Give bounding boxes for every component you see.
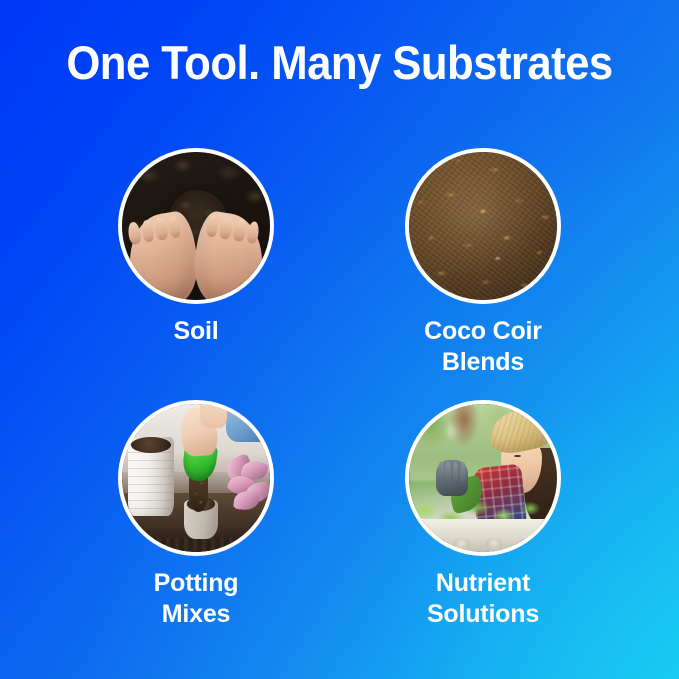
substrate-label-soil: Soil (56, 316, 336, 347)
pink-plant (223, 454, 270, 513)
finger (141, 219, 156, 243)
planter-soil (131, 437, 171, 453)
finger (168, 215, 183, 239)
white-planter (128, 437, 174, 517)
channel-hole (486, 538, 502, 550)
soil-photo (122, 152, 270, 300)
finger (232, 218, 247, 242)
substrate-grid: Soil Coco Coir Blends (0, 0, 679, 679)
page-title: One Tool. Many Substrates (24, 38, 655, 88)
work-glove (436, 460, 469, 496)
channel-hole (421, 538, 437, 550)
soil-circle-frame (118, 148, 274, 304)
nutrient-solutions-photo (409, 404, 557, 552)
gardener-arm (200, 404, 227, 428)
potting-mix-photo (122, 404, 270, 552)
blue-cloth (226, 404, 267, 442)
substrate-item-coco-coir[interactable]: Coco Coir Blends (343, 148, 623, 377)
potting-mix-circle-frame (118, 400, 274, 556)
channel-hole (453, 538, 469, 550)
bench-tray (125, 538, 267, 552)
nutrient-circle-frame (405, 400, 561, 556)
glove-finger (453, 462, 459, 481)
hydroponic-channel (409, 519, 557, 552)
substrate-label-coco-coir: Coco Coir Blends (343, 316, 623, 377)
glove-finger (460, 462, 466, 481)
finger (154, 217, 169, 241)
glove-finger (438, 462, 444, 481)
coco-coir-circle-frame (405, 148, 561, 304)
substrates-poster: One Tool. Many Substrates (0, 0, 679, 679)
coco-coir-photo (409, 152, 557, 300)
substrate-item-nutrient-solutions[interactable]: Nutrient Solutions (343, 400, 623, 629)
substrate-label-potting-mixes: Potting Mixes (56, 568, 336, 629)
finger (218, 216, 233, 240)
channel-hole (519, 538, 535, 550)
eye (514, 455, 521, 457)
finger (245, 220, 260, 244)
substrate-item-potting-mixes[interactable]: Potting Mixes (56, 400, 336, 629)
coir-vignette (409, 152, 557, 300)
glove-finger (445, 462, 451, 481)
finger (205, 214, 220, 238)
substrate-label-nutrient-solutions: Nutrient Solutions (343, 568, 623, 629)
substrate-item-soil[interactable]: Soil (56, 148, 336, 347)
